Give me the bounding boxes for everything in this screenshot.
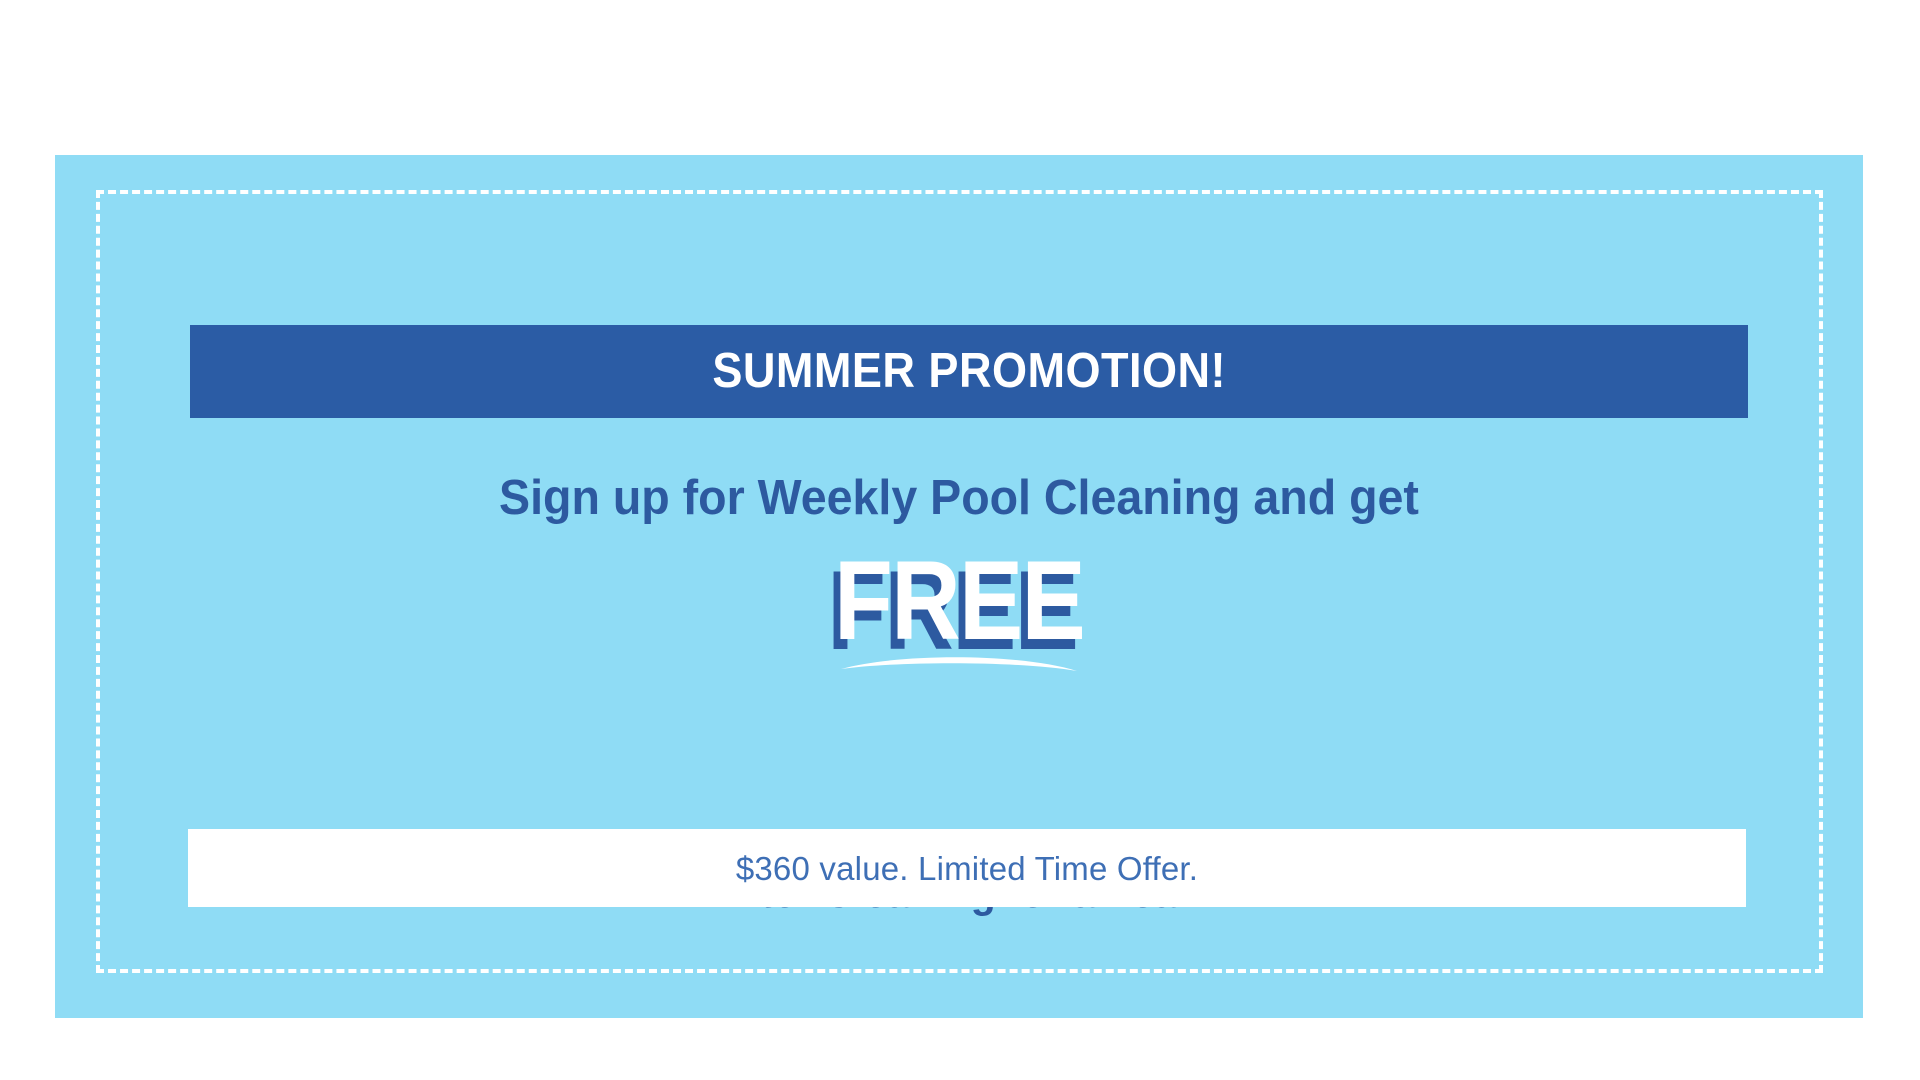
coupon-root: SUMMER PROMOTION! Sign up for Weekly Poo… xyxy=(0,0,1920,1080)
value-bar: $360 value. Limited Time Offer. xyxy=(188,829,1746,907)
value-bar-text: $360 value. Limited Time Offer. xyxy=(736,852,1198,885)
swoosh-underline-icon xyxy=(839,649,1079,675)
promo-banner: SUMMER PROMOTION! xyxy=(190,325,1748,418)
free-word-front: FREE xyxy=(182,545,1737,657)
free-highlight-block: FREE FREE xyxy=(55,545,1863,715)
coupon-panel: SUMMER PROMOTION! Sign up for Weekly Poo… xyxy=(55,155,1863,1018)
free-word-wrap: FREE FREE xyxy=(55,545,1863,665)
promo-banner-label: SUMMER PROMOTION! xyxy=(712,347,1226,396)
coupon-headline: Sign up for Weekly Pool Cleaning and get xyxy=(100,473,1818,524)
